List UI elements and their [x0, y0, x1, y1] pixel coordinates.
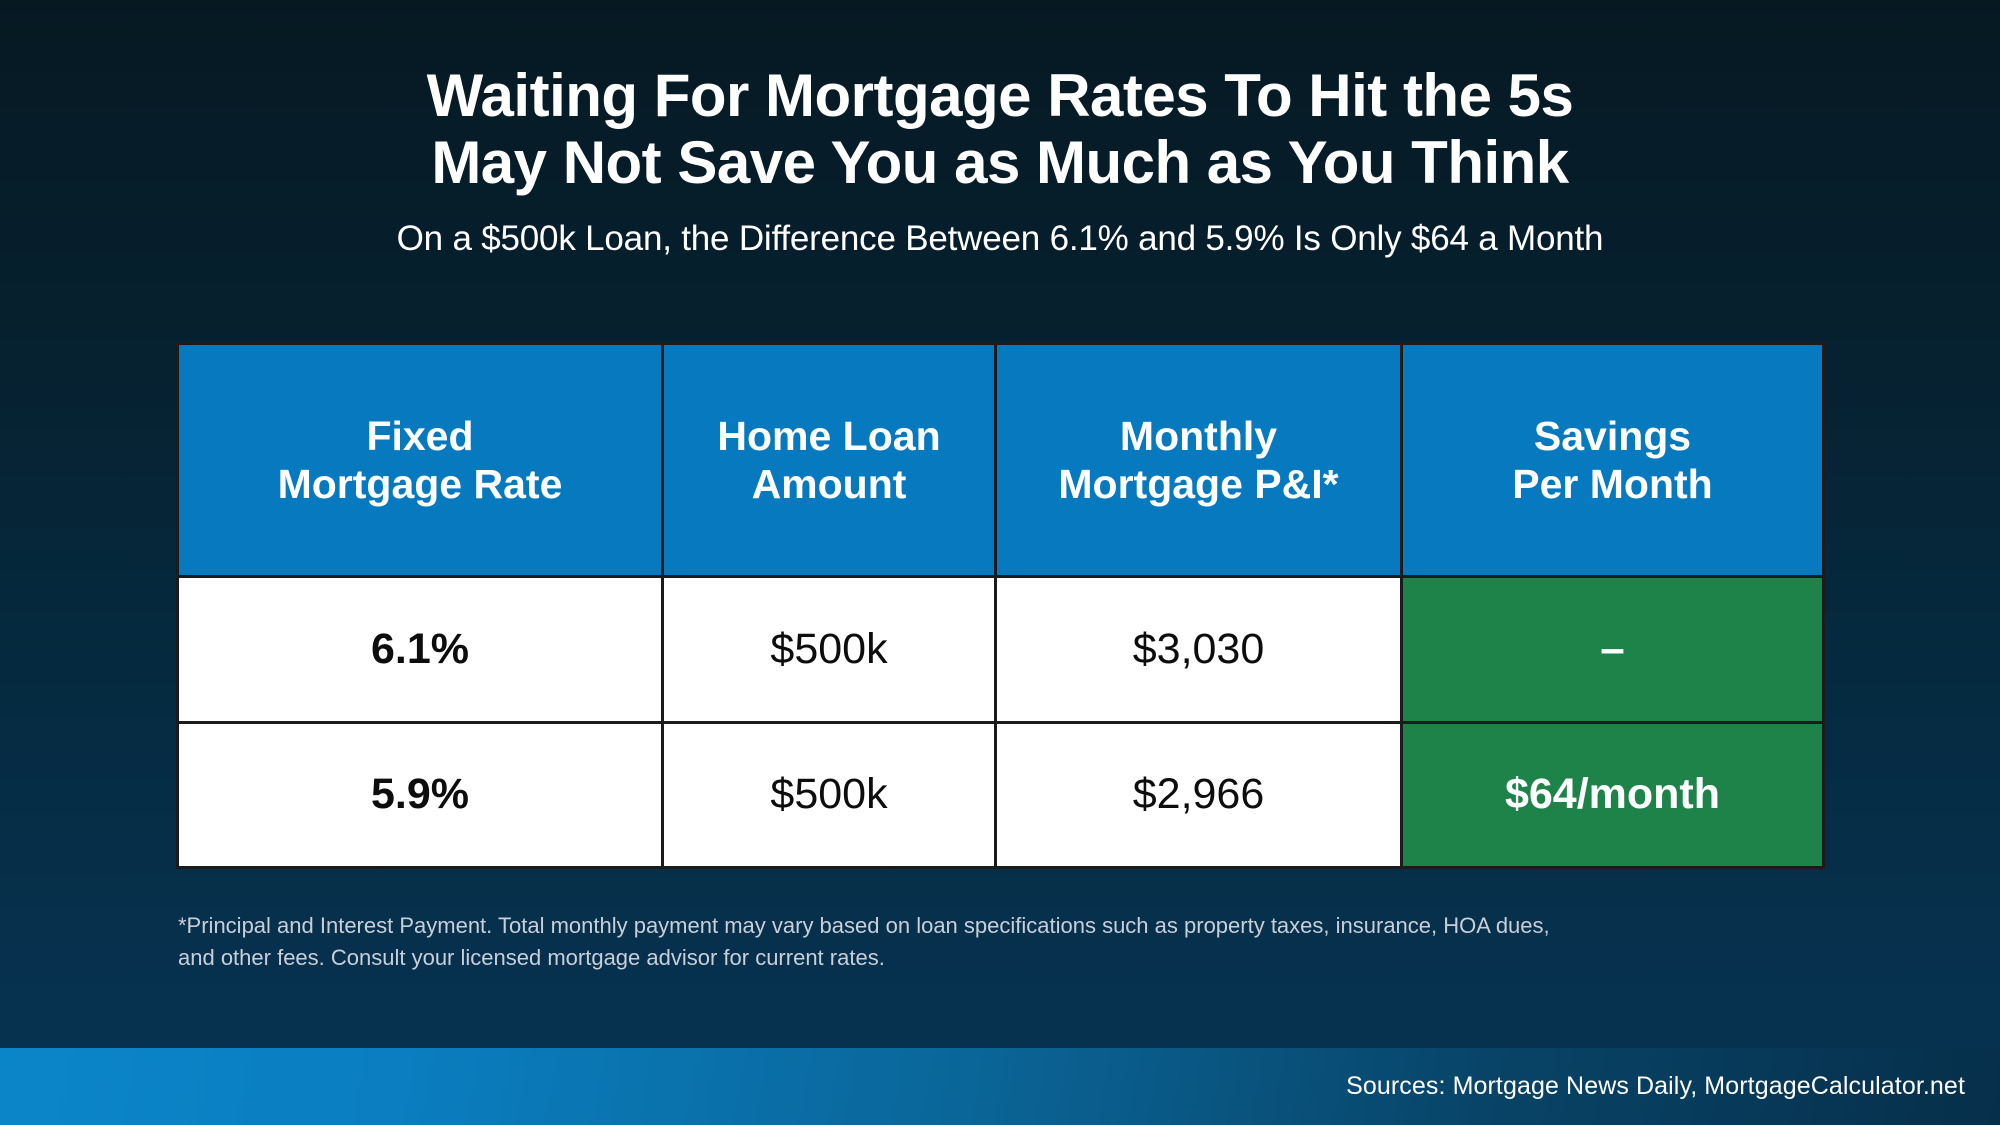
header-line-1: Home Loan [717, 412, 940, 460]
footnote-line-2: and other fees. Consult your licensed mo… [178, 942, 1778, 974]
table-row: 6.1% $500k $3,030 – [179, 575, 1822, 720]
sources-text: Sources: Mortgage News Daily, MortgageCa… [1346, 1072, 2000, 1101]
footnote-disclaimer: *Principal and Interest Payment. Total m… [178, 910, 1778, 974]
header-line-1: Fixed [278, 412, 563, 460]
column-header-fixed-mortgage-rate: Fixed Mortgage Rate [179, 345, 664, 575]
cell-savings: $64/month [1403, 724, 1822, 866]
title-line-1: Waiting For Mortgage Rates To Hit the 5s [0, 62, 2000, 129]
footnote-line-1: *Principal and Interest Payment. Total m… [178, 910, 1778, 942]
cell-rate: 5.9% [179, 724, 664, 866]
table-row: 5.9% $500k $2,966 $64/month [179, 721, 1822, 866]
header-line-1: Savings [1512, 412, 1712, 460]
cell-monthly-payment: $3,030 [997, 578, 1403, 720]
page-subtitle: On a $500k Loan, the Difference Between … [0, 218, 2000, 260]
title-line-2: May Not Save You as Much as You Think [0, 129, 2000, 196]
cell-monthly-payment: $2,966 [997, 724, 1403, 866]
header-line-2: Mortgage Rate [278, 460, 563, 508]
header-line-2: Amount [717, 460, 940, 508]
headline-block: Waiting For Mortgage Rates To Hit the 5s… [0, 62, 2000, 260]
cell-rate: 6.1% [179, 578, 664, 720]
mortgage-comparison-table: Fixed Mortgage Rate Home Loan Amount Mon… [176, 342, 1825, 869]
column-header-home-loan-amount: Home Loan Amount [664, 345, 997, 575]
header-line-1: Monthly [1058, 412, 1338, 460]
column-header-monthly-mortgage-pi: Monthly Mortgage P&I* [997, 345, 1403, 575]
page-title: Waiting For Mortgage Rates To Hit the 5s… [0, 62, 2000, 196]
infographic-canvas: Waiting For Mortgage Rates To Hit the 5s… [0, 0, 2000, 1125]
header-line-2: Per Month [1512, 460, 1712, 508]
cell-savings: – [1403, 578, 1822, 720]
table-header-row: Fixed Mortgage Rate Home Loan Amount Mon… [179, 345, 1822, 575]
column-header-savings-per-month: Savings Per Month [1403, 345, 1822, 575]
cell-loan-amount: $500k [664, 578, 997, 720]
cell-loan-amount: $500k [664, 724, 997, 866]
header-line-2: Mortgage P&I* [1058, 460, 1338, 508]
footer-bar: Sources: Mortgage News Daily, MortgageCa… [0, 1048, 2000, 1125]
